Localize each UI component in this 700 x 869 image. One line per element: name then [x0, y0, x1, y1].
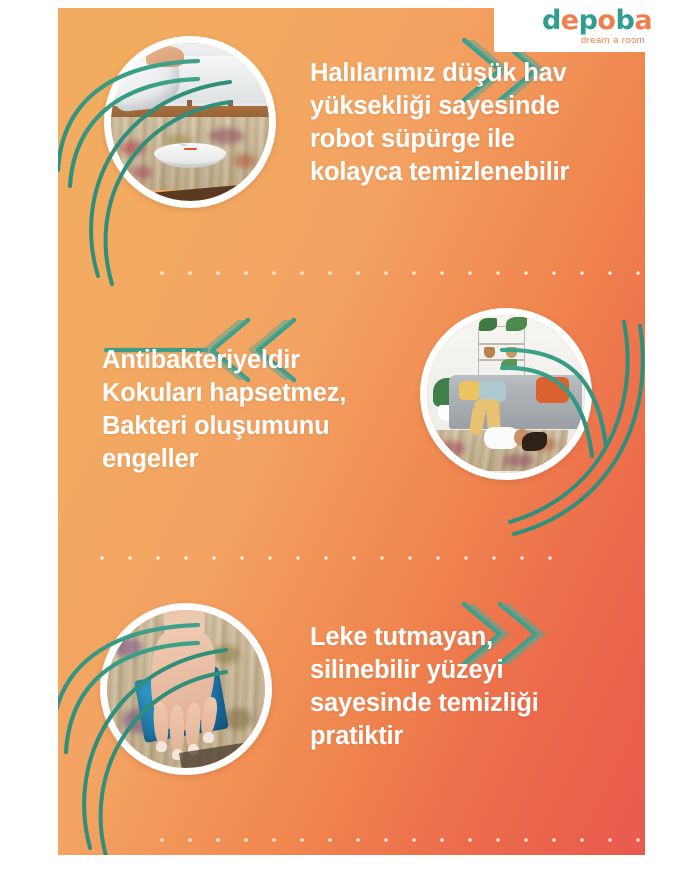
feature-1-line-3: robot süpürge ile	[310, 123, 640, 156]
circle-arcs-2	[410, 320, 645, 550]
feature-text-2: Antibakteriyeldir Kokuları hapsetmez, Ba…	[102, 344, 402, 477]
dotted-separator-2	[88, 556, 568, 560]
feature-3-line-4: pratiktir	[310, 720, 620, 753]
brand-wordmark: d e p o b a	[542, 7, 652, 34]
logo-letter-b: b	[615, 7, 634, 34]
feature-2-line-2: Kokuları hapsetmez,	[102, 377, 402, 410]
gradient-panel: Halılarımız düşük hav yüksekliği sayesin…	[58, 8, 645, 855]
brand-logo[interactable]: d e p o b a dream a room	[494, 0, 700, 52]
logo-letter-p: p	[579, 7, 598, 34]
brand-tagline: dream a room	[581, 35, 645, 46]
feature-1-line-1: Halılarımız düşük hav	[310, 57, 640, 90]
circle-arcs-3	[74, 634, 289, 855]
circle-arcs-1	[80, 70, 290, 285]
feature-3-line-3: sayesinde temizliği	[310, 687, 620, 720]
feature-3-line-2: silinebilir yüzeyi	[310, 654, 620, 687]
feature-2-line-4: engeller	[102, 443, 402, 476]
logo-letter-e: e	[561, 7, 579, 34]
feature-text-1: Halılarımız düşük hav yüksekliği sayesin…	[310, 57, 640, 190]
feature-1-line-2: yüksekliği sayesinde	[310, 90, 640, 123]
feature-text-3: Leke tutmayan, silinebilir yüzeyi sayesi…	[310, 621, 620, 754]
feature-2-line-3: Bakteri oluşumunu	[102, 410, 402, 443]
feature-3-line-1: Leke tutmayan,	[310, 621, 620, 654]
infographic-page: Halılarımız düşük hav yüksekliği sayesin…	[0, 0, 700, 869]
feature-2-line-1: Antibakteriyeldir	[102, 344, 402, 377]
logo-letter-a: a	[634, 7, 652, 34]
feature-1-line-4: kolayca temizlenebilir	[310, 156, 640, 189]
logo-letter-d: d	[542, 7, 561, 34]
logo-letter-o: o	[597, 7, 615, 34]
